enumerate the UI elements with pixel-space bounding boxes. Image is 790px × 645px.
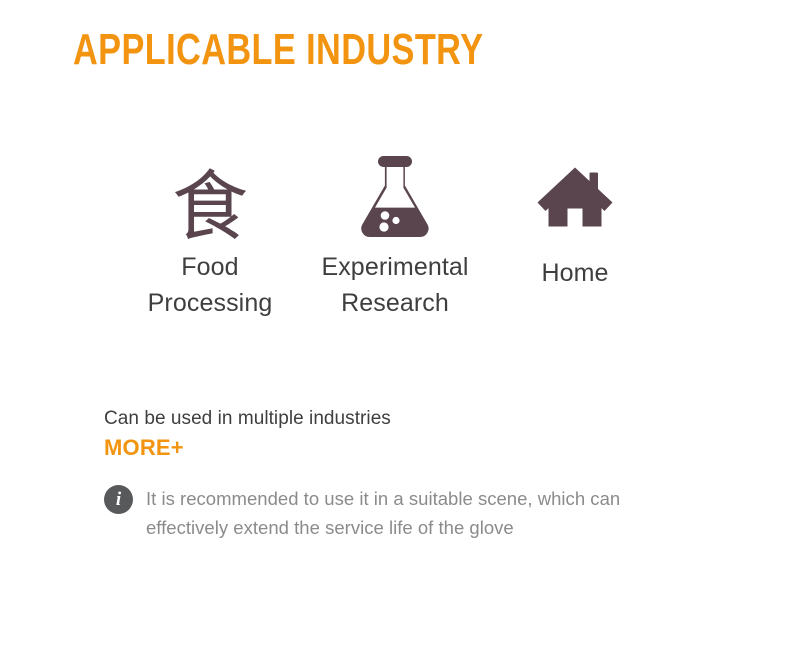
more-link[interactable]: MORE+: [104, 435, 184, 461]
industry-label-experimental-research: Experimental Research: [300, 250, 490, 321]
notice-block: i It is recommended to use it in a suita…: [104, 484, 704, 542]
house-icon-svg: [537, 150, 613, 242]
industry-item-home[interactable]: Home: [500, 150, 650, 292]
industry-item-experimental-research[interactable]: Experimental Research: [300, 150, 490, 321]
flask-icon-svg: [353, 150, 437, 242]
industry-item-food-processing[interactable]: 食 Food Processing: [125, 150, 295, 321]
notice-text: It is recommended to use it in a suitabl…: [146, 484, 691, 542]
applicable-industry-section: APPLICABLE INDUSTRY 食 Food Processing: [0, 0, 790, 645]
tagline-text: Can be used in multiple industries: [104, 408, 391, 430]
industry-list: 食 Food Processing Experimental Research: [0, 150, 790, 330]
industry-label-food-processing: Food Processing: [125, 250, 295, 321]
house-icon: [500, 150, 650, 242]
food-glyph: 食: [172, 172, 248, 242]
info-icon: i: [104, 485, 133, 514]
industry-label-home: Home: [500, 256, 650, 292]
food-character-icon: 食: [125, 150, 295, 242]
page-title: APPLICABLE INDUSTRY: [73, 25, 483, 74]
flask-icon: [300, 150, 490, 242]
